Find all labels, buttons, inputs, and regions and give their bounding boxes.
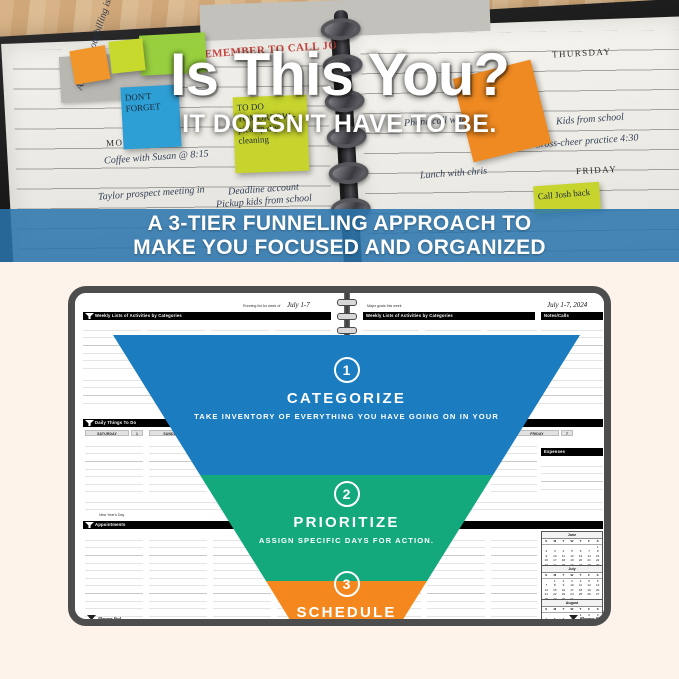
day-chip-sunday-number: 2	[195, 430, 207, 436]
funnel-tier-1-subtitle: TAKE INVENTORY OF EVERYTHING YOU HAVE GO…	[194, 412, 499, 422]
funnel-tier-3-title: SCHEDULE	[296, 604, 396, 621]
day-heading-friday: FRIDAY	[576, 164, 618, 176]
day-chip-saturday: SATURDAY	[85, 430, 129, 436]
tagline-line-1: A 3-TIER FUNNELING APPROACH TO	[148, 212, 532, 236]
spiral-ring	[337, 341, 357, 348]
hero-headline: Is This You?	[0, 44, 679, 106]
expenses-bar: Expenses	[541, 448, 603, 456]
binder-ring	[320, 17, 361, 41]
planner-pad-spread: Running list for week of July 1-7 Major …	[68, 286, 611, 626]
funnel-tier-1-title: CATEGORIZE	[287, 390, 406, 407]
left-header-date: July 1-7	[287, 301, 310, 309]
sticky-note-call-josh-text: Call Josh back	[533, 181, 601, 208]
funnel-tier-2-title: PRIORITIZE	[293, 514, 399, 531]
lower-section: Running list for week of July 1-7 Major …	[0, 262, 679, 679]
funnel-tier-3: 3 SCHEDULE BLOCK OUT TIME TO GET THINGS …	[75, 571, 611, 626]
hero-headline-block: Is This You? IT DOESN'T HAVE TO BE.	[0, 44, 679, 138]
right-header-note: Major goals this week	[367, 304, 402, 309]
infographic-root: MONDAY THURSDAY FRIDAY REMEMBER TO CALL …	[0, 0, 679, 679]
mini-calendar-day: 17	[593, 622, 602, 626]
day-chip-sunday: SUNDAY	[149, 430, 193, 436]
funnel-tier-1-badge: 1	[334, 357, 360, 383]
mini-calendar-day: 13	[559, 622, 568, 626]
funnel-tier-3-badge: 3	[334, 571, 360, 597]
mini-calendar-week: 11121314151617	[542, 622, 602, 626]
planner-page-surface: Running list for week of July 1-7 Major …	[75, 293, 604, 619]
spiral-ring	[337, 313, 357, 320]
hero-subheadline: IT DOESN'T HAVE TO BE.	[0, 110, 679, 138]
right-weekly-lists-bar: Weekly Lists of Activities by Categories	[363, 312, 535, 320]
spiral-ring	[337, 327, 357, 334]
day-chip-saturday-number: 1	[131, 430, 143, 436]
funnel-icon	[85, 313, 94, 319]
mini-calendar-day: 15	[576, 622, 585, 626]
day-chip-friday: FRIDAY	[515, 430, 559, 436]
tagline-banner: A 3-TIER FUNNELING APPROACH TO MAKE YOU …	[0, 209, 679, 262]
binder-ring	[328, 161, 369, 185]
tagline-line-2: MAKE YOU FOCUSED AND ORGANIZED	[133, 236, 546, 260]
funnel-tier-2: 2 PRIORITIZE ASSIGN SPECIFIC DAYS FOR AC…	[75, 481, 611, 546]
mini-calendar-day: 11	[542, 622, 551, 626]
spiral-ring	[337, 299, 357, 306]
right-header-date: July 1-7, 2024	[547, 301, 587, 309]
funnel-tier-2-subtitle: ASSIGN SPECIFIC DAYS FOR ACTION.	[259, 536, 434, 546]
day-chip-friday-number: 7	[561, 430, 573, 436]
notes-calls-bar: Notes/Calls	[541, 312, 603, 320]
mini-calendar-day: 16	[585, 622, 594, 626]
left-weekly-lists-bar: Weekly Lists of Activities by Categories	[83, 312, 331, 320]
mini-calendar-day: 12	[551, 622, 560, 626]
funnel-tier-1: 1 CATEGORIZE TAKE INVENTORY OF EVERYTHIN…	[75, 357, 611, 422]
mini-calendar-day: 14	[568, 622, 577, 626]
funnel-tier-2-badge: 2	[334, 481, 360, 507]
left-header-note: Running list for week of	[243, 304, 280, 309]
